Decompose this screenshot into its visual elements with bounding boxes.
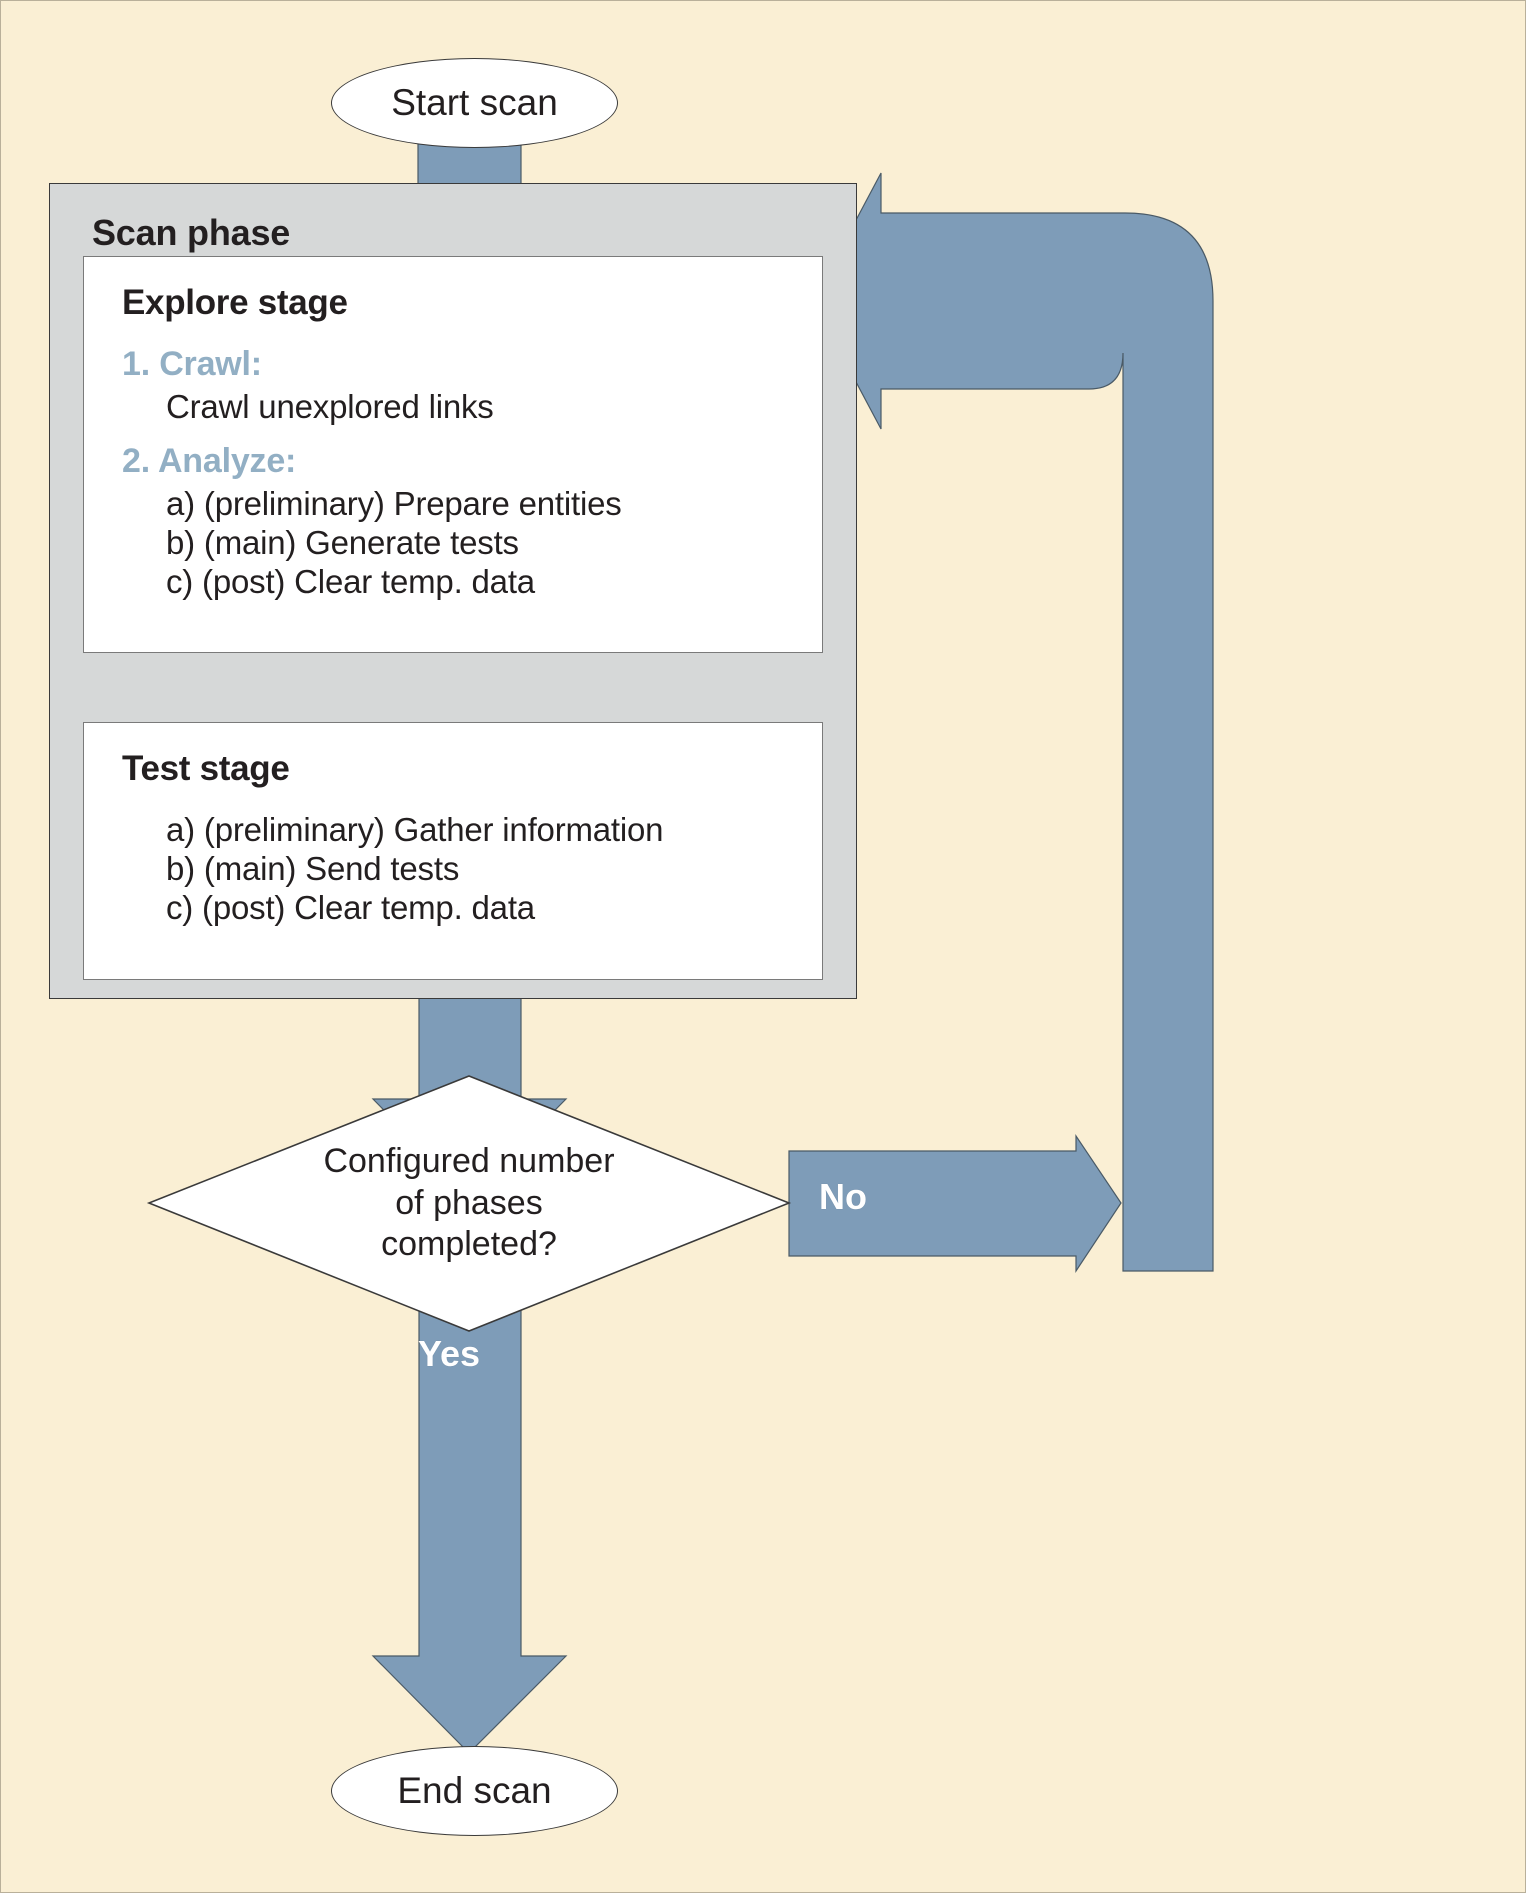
explore-step-2-line-a: a) (preliminary) Prepare entities [166,485,822,523]
scan-phase-title: Scan phase [92,212,290,254]
test-stage-line-b: b) (main) Send tests [166,850,822,888]
decision-line-3: completed? [381,1224,557,1265]
decision-line-2: of phases [395,1183,542,1224]
explore-stage-box[interactable]: Explore stage 1. Crawl: Crawl unexplored… [83,256,823,653]
start-terminator[interactable]: Start scan [331,58,618,148]
flowchart-canvas: Start scan Scan phase Explore stage 1. C… [0,0,1526,1893]
branch-label-yes: Yes [418,1333,480,1375]
test-stage-box[interactable]: Test stage a) (preliminary) Gather infor… [83,722,823,980]
test-stage-title: Test stage [122,749,822,789]
start-terminator-label: Start scan [391,82,558,124]
explore-stage-title: Explore stage [122,283,822,323]
explore-step-2-line-c: c) (post) Clear temp. data [166,563,822,601]
decision-line-1: Configured number [323,1141,614,1182]
explore-step-1: 1. Crawl: Crawl unexplored links [84,345,822,426]
explore-step-1-head: 1. Crawl: [122,345,822,384]
loop-arrow-return [813,173,1213,1271]
end-terminator[interactable]: End scan [331,1746,618,1836]
end-terminator-label: End scan [397,1770,551,1812]
explore-step-1-line-1: Crawl unexplored links [166,388,822,426]
decision-node[interactable]: Configured number of phases completed? [149,1076,789,1331]
explore-step-2-line-b: b) (main) Generate tests [166,524,822,562]
test-stage-line-c: c) (post) Clear temp. data [166,889,822,927]
branch-label-no: No [819,1176,867,1218]
test-stage-list: a) (preliminary) Gather information b) (… [84,811,822,927]
explore-step-2: 2. Analyze: a) (preliminary) Prepare ent… [84,442,822,601]
explore-step-2-head: 2. Analyze: [122,442,822,481]
decision-text: Configured number of phases completed? [149,1076,789,1331]
test-stage-line-a: a) (preliminary) Gather information [166,811,822,849]
